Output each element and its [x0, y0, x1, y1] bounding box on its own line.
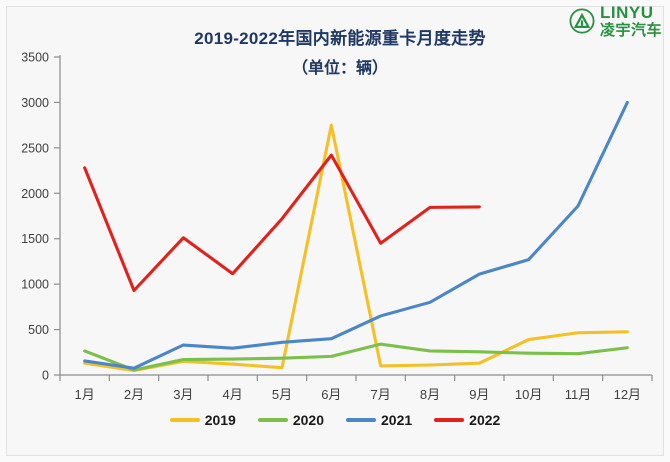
series-line-2021: [85, 102, 628, 368]
x-tick-label: 6月: [321, 387, 341, 402]
legend-swatch-2019: [170, 418, 200, 422]
x-tick-label: 3月: [173, 387, 193, 402]
y-tick-label: 0: [42, 369, 49, 383]
series-line-2022: [85, 155, 480, 290]
y-axis-ticks: 0500100015002000250030003500: [21, 51, 60, 383]
x-tick-label: 9月: [469, 387, 489, 402]
y-tick-label: 2500: [21, 141, 49, 155]
legend-swatch-2020: [258, 418, 288, 422]
x-tick-label: 4月: [223, 387, 243, 402]
legend-swatch-2021: [346, 418, 376, 422]
series-lines: [85, 102, 628, 370]
plot-area: 0500100015002000250030003500 1月2月3月4月5月6…: [0, 0, 670, 462]
x-axis-ticks: 1月2月3月4月5月6月7月8月9月10月11月12月: [60, 375, 652, 402]
x-tick-label: 2月: [124, 387, 144, 402]
legend-item-2019[interactable]: 2019: [170, 412, 236, 428]
chart-legend: 2019202020212022: [0, 412, 670, 428]
legend-label-2021: 2021: [381, 412, 412, 428]
y-tick-label: 1000: [21, 278, 49, 292]
x-tick-label: 12月: [614, 387, 641, 402]
series-line-2019: [85, 125, 628, 370]
y-tick-label: 3000: [21, 96, 49, 110]
legend-item-2021[interactable]: 2021: [346, 412, 412, 428]
x-tick-label: 5月: [272, 387, 292, 402]
x-tick-label: 8月: [420, 387, 440, 402]
legend-item-2022[interactable]: 2022: [434, 412, 500, 428]
x-tick-label: 11月: [565, 387, 592, 402]
x-tick-label: 1月: [75, 387, 95, 402]
legend-label-2022: 2022: [469, 412, 500, 428]
x-tick-label: 7月: [371, 387, 391, 402]
legend-swatch-2022: [434, 418, 464, 422]
legend-label-2020: 2020: [293, 412, 324, 428]
legend-label-2019: 2019: [205, 412, 236, 428]
line-chart-svg: 0500100015002000250030003500 1月2月3月4月5月6…: [0, 0, 670, 462]
y-tick-label: 2000: [21, 187, 49, 201]
y-tick-label: 3500: [21, 51, 49, 65]
x-tick-label: 10月: [515, 387, 542, 402]
y-tick-label: 500: [28, 323, 49, 337]
chart-page: LINYU 凌宇汽车 2019-2022年国内新能源重卡月度走势 （单位：辆） …: [0, 0, 670, 462]
legend-item-2020[interactable]: 2020: [258, 412, 324, 428]
y-tick-label: 1500: [21, 232, 49, 246]
